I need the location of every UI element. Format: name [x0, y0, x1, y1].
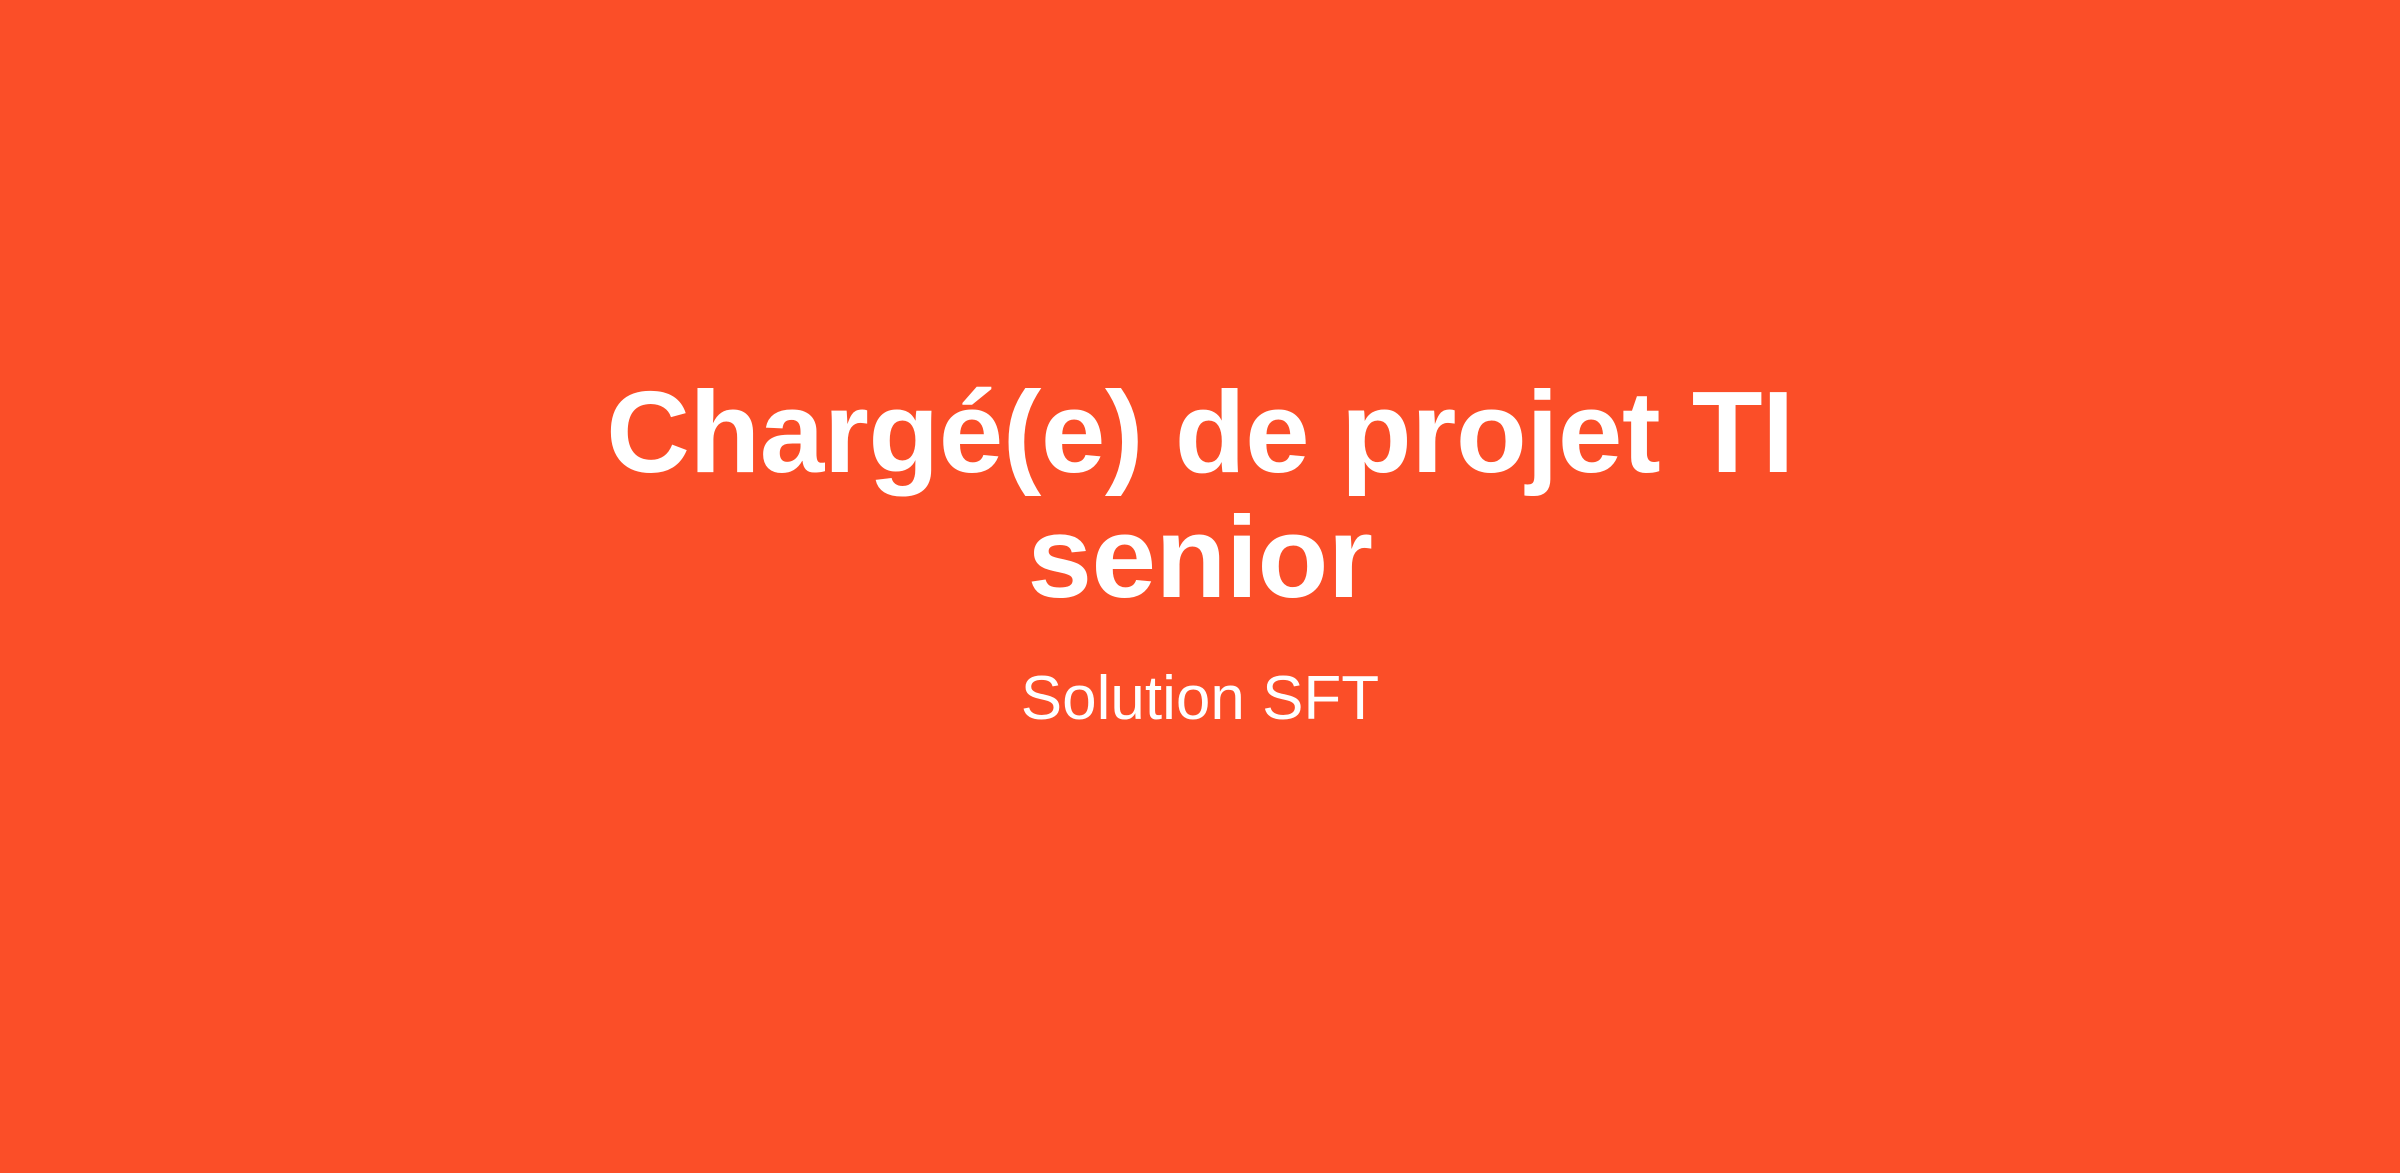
job-posting-hero-banner: Chargé(e) de projet TI senior Solution S…: [0, 0, 2400, 1173]
page-subtitle: Solution SFT: [1021, 662, 1379, 735]
hero-text-block: Chargé(e) de projet TI senior Solution S…: [520, 370, 1880, 736]
page-title: Chargé(e) de projet TI senior: [530, 370, 1870, 621]
